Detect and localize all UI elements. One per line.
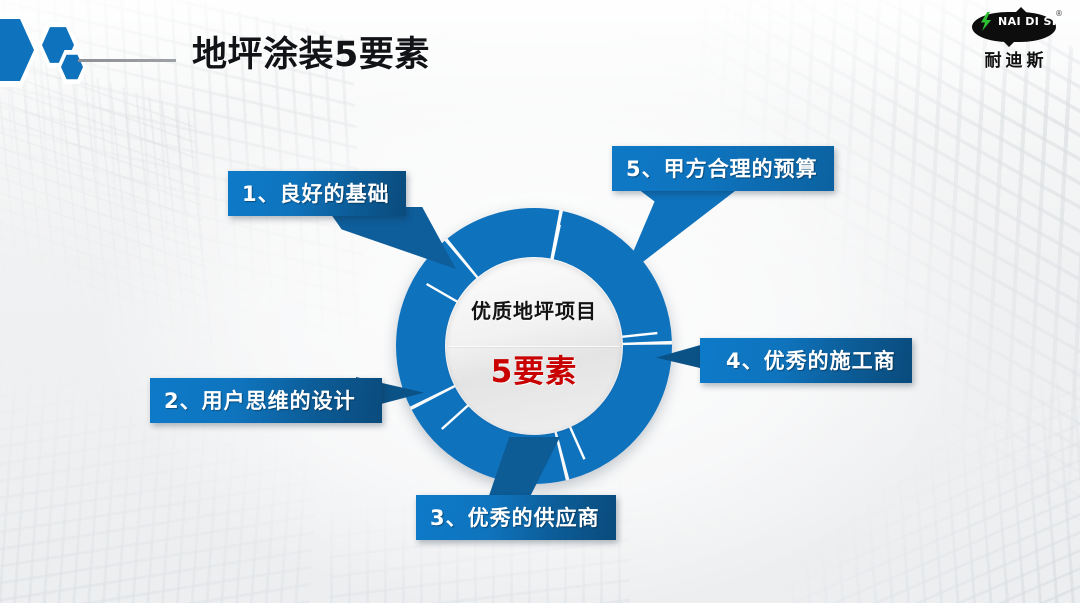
callout-4[interactable]: 4、优秀的施工商: [700, 338, 912, 383]
header-rule: [78, 59, 176, 62]
hexagon-large-icon: [0, 13, 38, 87]
donut-center-label: 优质地坪项目 5要素: [446, 258, 622, 434]
registered-trademark-icon: ®: [1055, 9, 1063, 18]
center-bottom-text: 5要素: [491, 346, 578, 391]
callout-2[interactable]: 2、用户思维的设计: [150, 378, 382, 423]
slide-canvas: 地坪涂装5要素 NAI DI SI ® 耐迪斯 优质地坪项目 5要素: [0, 0, 1080, 603]
callout-3[interactable]: 3、优秀的供应商: [416, 495, 616, 540]
logo-english-name: NAI DI SI: [998, 15, 1056, 28]
slide-header: 地坪涂装5要素: [0, 0, 1080, 104]
callout-2-label[interactable]: 2、用户思维的设计: [150, 378, 382, 423]
center-top-text: 优质地坪项目: [471, 295, 597, 324]
brand-logo: NAI DI SI ® 耐迪斯: [968, 6, 1064, 74]
callout-5[interactable]: 5、甲方合理的预算: [612, 146, 834, 191]
callout-3-label[interactable]: 3、优秀的供应商: [416, 495, 616, 540]
callout-4-label[interactable]: 4、优秀的施工商: [700, 338, 912, 383]
logo-chinese-name: 耐迪斯: [968, 46, 1064, 71]
callout-5-label[interactable]: 5、甲方合理的预算: [612, 146, 834, 191]
page-title: 地坪涂装5要素: [192, 26, 430, 77]
callout-1-label[interactable]: 1、良好的基础: [228, 171, 406, 216]
callout-1[interactable]: 1、良好的基础: [228, 171, 406, 216]
